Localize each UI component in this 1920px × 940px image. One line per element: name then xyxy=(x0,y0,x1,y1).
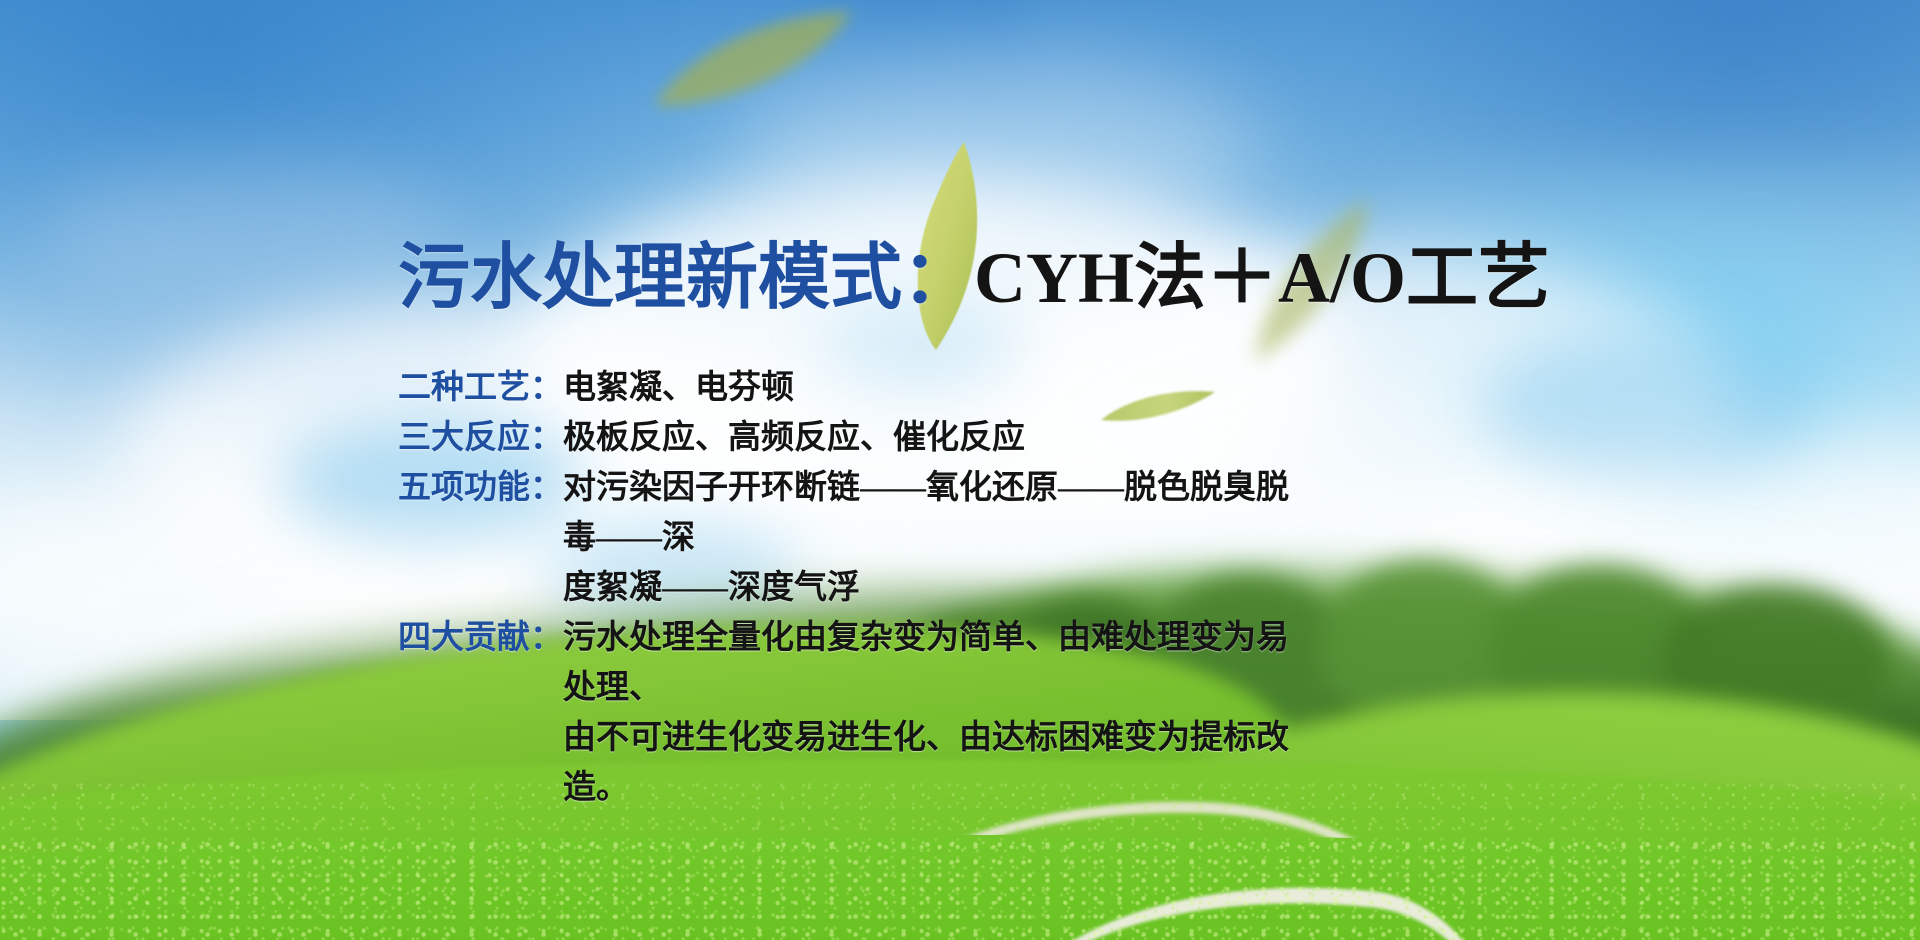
bullet-list: 二种工艺： 电絮凝、电芬顿 三大反应： 极板反应、高频反应、催化反应 五项功能：… xyxy=(398,363,1293,813)
slide-canvas: 污水处理新模式：CYH法＋A/O工艺 二种工艺： 电絮凝、电芬顿 三大反应： 极… xyxy=(0,0,1920,940)
bullet-text: 对污染因子开环断链——氧化还原——脱色脱臭脱毒——深 度絮凝——深度气浮 xyxy=(563,463,1293,613)
bullet-label: 三大反应： xyxy=(398,413,563,463)
bullet-text: 污水处理全量化由复杂变为简单、由难处理变为易处理、 由不可进生化变易进生化、由达… xyxy=(563,613,1293,813)
bullet-text: 电絮凝、电芬顿 xyxy=(563,363,794,413)
bullet-text: 极板反应、高频反应、催化反应 xyxy=(563,413,1025,463)
bullet-text-line1: 极板反应、高频反应、催化反应 xyxy=(563,420,1025,456)
bullet-text-line1: 电絮凝、电芬顿 xyxy=(563,370,794,406)
bullet-row: 五项功能： 对污染因子开环断链——氧化还原——脱色脱臭脱毒——深 度絮凝——深度… xyxy=(398,463,1293,613)
title-rest: CYH法＋A/O工艺 xyxy=(974,238,1550,318)
bullet-label: 五项功能： xyxy=(398,463,563,513)
bullet-text-line1: 对污染因子开环断链——氧化还原——脱色脱臭脱毒——深 xyxy=(563,463,1293,563)
bullet-row: 四大贡献： 污水处理全量化由复杂变为简单、由难处理变为易处理、 由不可进生化变易… xyxy=(398,613,1293,813)
bullet-row: 二种工艺： 电絮凝、电芬顿 xyxy=(398,363,1293,413)
bullet-text-line1: 污水处理全量化由复杂变为简单、由难处理变为易处理、 xyxy=(563,613,1293,713)
bullet-row: 三大反应： 极板反应、高频反应、催化反应 xyxy=(398,413,1293,463)
title-highlight: 污水处理新模式： xyxy=(398,238,974,318)
page-title: 污水处理新模式：CYH法＋A/O工艺 xyxy=(398,242,1550,314)
text-content: 污水处理新模式：CYH法＋A/O工艺 二种工艺： 电絮凝、电芬顿 三大反应： 极… xyxy=(0,0,1920,940)
bullet-text-line2: 由不可进生化变易进生化、由达标困难变为提标改造。 xyxy=(563,713,1293,813)
bullet-label: 四大贡献： xyxy=(398,613,563,663)
bullet-label: 二种工艺： xyxy=(398,363,563,413)
bullet-text-line2: 度絮凝——深度气浮 xyxy=(563,563,1293,613)
